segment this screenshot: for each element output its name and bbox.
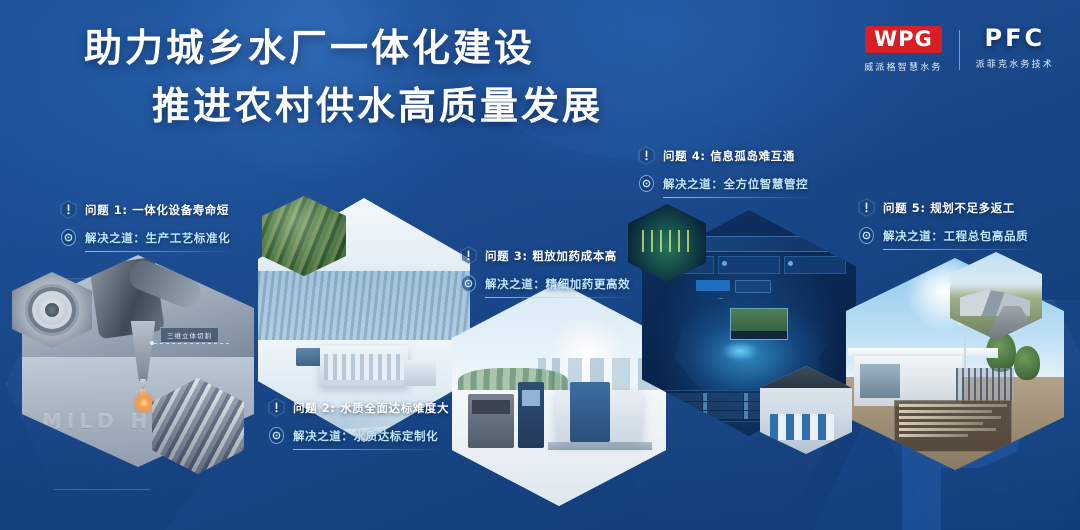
- logo-divider: [959, 30, 960, 70]
- poster-canvas: 助力城乡水厂一体化建设 推进农村供水高质量发展 WPG 威派格智慧水务 PFC …: [0, 0, 1080, 530]
- callout-1-solution-row[interactable]: 解决之道：生产工艺标准化: [60, 228, 235, 247]
- callout-1-problem-text: 问题 1: 一体化设备寿命短: [85, 202, 229, 218]
- callout-4-problem-row[interactable]: 问题 4: 信息孤岛难互通: [638, 146, 813, 165]
- callout-5-problem-text: 问题 5: 规划不足多返工: [883, 200, 1015, 216]
- callout-2-solution-text: 解决之道：水质达标定制化: [293, 428, 438, 444]
- callout-3-underline: [485, 297, 635, 298]
- target-circle-icon: [638, 174, 655, 193]
- callout-4-solution-text: 解决之道：全方位智慧管控: [663, 176, 808, 192]
- title-line-2-b: 高质量发展: [398, 83, 603, 128]
- title-line-2-a: 推进农村供水: [152, 83, 398, 128]
- callout-2-solution-row[interactable]: 解决之道：水质达标定制化: [268, 426, 449, 445]
- exclamation-hex-icon: [60, 200, 77, 219]
- target-circle-icon: [268, 426, 285, 445]
- hexagon-1-caption: 三维立体切割: [160, 327, 219, 343]
- callout-4-solution-row[interactable]: 解决之道：全方位智慧管控: [638, 174, 813, 193]
- callout-group-4: 问题 4: 信息孤岛难互通 解决之道：全方位智慧管控: [638, 146, 813, 207]
- target-circle-icon: [60, 228, 77, 247]
- callout-5-solution-row[interactable]: 解决之道：工程总包高品质: [858, 226, 1033, 245]
- target-circle-icon: [858, 226, 875, 245]
- pfc-subtitle: 派菲克水务技术: [976, 57, 1054, 70]
- callout-2-problem-row[interactable]: 问题 2: 水质全面达标难度大: [268, 398, 449, 417]
- callout-3-problem-text: 问题 3: 粗放加药成本高: [485, 248, 617, 264]
- callout-group-5: 问题 5: 规划不足多返工 解决之道：工程总包高品质: [858, 198, 1033, 259]
- exclamation-hex-icon: [858, 198, 875, 217]
- callout-1-solution-text: 解决之道：生产工艺标准化: [85, 230, 230, 246]
- callout-4-problem-text: 问题 4: 信息孤岛难互通: [663, 148, 795, 164]
- page-title: 助力城乡水厂一体化建设 推进农村供水高质量发展: [0, 26, 660, 128]
- logo-wpg[interactable]: WPG 威派格智慧水务: [864, 26, 942, 73]
- exclamation-hex-icon: [638, 146, 655, 165]
- wpg-subtitle: 威派格智慧水务: [864, 60, 942, 73]
- title-line-1: 助力城乡水厂一体化建设: [0, 26, 660, 70]
- target-circle-icon: [460, 274, 477, 293]
- callout-3-problem-row[interactable]: 问题 3: 粗放加药成本高: [460, 246, 635, 265]
- exclamation-hex-icon: [268, 398, 285, 417]
- callout-group-1: 问题 1: 一体化设备寿命短 解决之道：生产工艺标准化: [60, 200, 235, 261]
- callout-group-2: 问题 2: 水质全面达标难度大 解决之道：水质达标定制化: [268, 398, 449, 459]
- callout-1-underline: [85, 251, 235, 252]
- wpg-wordmark: WPG: [865, 26, 942, 53]
- callout-3-solution-text: 解决之道：精细加药更高效: [485, 276, 630, 292]
- pfc-wordmark: PFC: [984, 26, 1045, 50]
- callout-5-underline: [883, 249, 1033, 250]
- callout-2-problem-text: 问题 2: 水质全面达标难度大: [293, 400, 449, 416]
- hexagon-5-note-block: [894, 400, 1012, 452]
- callout-group-3: 问题 3: 粗放加药成本高 解决之道：精细加药更高效: [460, 246, 635, 307]
- callout-2-underline: [293, 449, 443, 450]
- callout-5-problem-row[interactable]: 问题 5: 规划不足多返工: [858, 198, 1033, 217]
- title-line-2: 推进农村供水高质量发展: [0, 84, 660, 128]
- callout-4-underline: [663, 197, 813, 198]
- logo-pfc[interactable]: PFC 派菲克水务技术: [976, 26, 1054, 70]
- logo-bar: WPG 威派格智慧水务 PFC 派菲克水务技术: [864, 26, 1054, 73]
- exclamation-hex-icon: [460, 246, 477, 265]
- callout-3-solution-row[interactable]: 解决之道：精细加药更高效: [460, 274, 635, 293]
- callout-1-problem-row[interactable]: 问题 1: 一体化设备寿命短: [60, 200, 235, 219]
- callout-5-solution-text: 解决之道：工程总包高品质: [883, 228, 1028, 244]
